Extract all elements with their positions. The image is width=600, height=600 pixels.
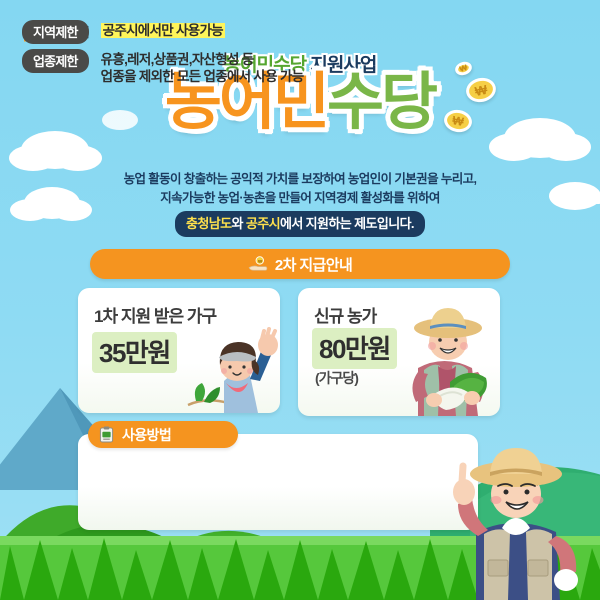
main-title-green-part: 수당 <box>327 68 435 137</box>
card-amount-existing: 35만원 <box>92 332 177 373</box>
highlight-tail: 에서 지원하는 제도입니다. <box>280 216 414 231</box>
usage-tag-business: 업종제한 <box>22 49 89 73</box>
card-sub-new: (가구당) <box>315 368 358 388</box>
farmer-man-pointing-illustration <box>432 432 600 600</box>
highlight-conjunction: 와 <box>231 216 245 231</box>
usage-tag-region: 지역제한 <box>22 20 89 44</box>
highlight-city: 공주시 <box>246 216 280 231</box>
usage-value-business-line2: 업종을 제외한 모든 업종에서 사용 가능 <box>101 68 304 85</box>
description-block: 농업 활동이 창출하는 공익적 가치를 보장하여 농업인이 기본권을 누리고, … <box>0 170 600 237</box>
usage-row-region[interactable]: 지역제한 공주시에서만 사용가능 <box>22 20 303 44</box>
usage-value-region: 공주시에서만 사용가능 <box>101 20 225 39</box>
usage-banner-label: 사용방법 <box>122 425 171 445</box>
usage-value-business: 유흥,레저,상품권,자산형성 등 업종을 제외한 모든 업종에서 사용 가능 <box>101 49 304 85</box>
usage-row-business[interactable]: 업종제한 유흥,레저,상품권,자산형성 등 업종을 제외한 모든 업종에서 사용… <box>22 49 303 85</box>
card-amount-new: 80만원 <box>312 328 397 369</box>
usage-rows: 지역제한 공주시에서만 사용가능 업종제한 유흥,레저,상품권,자산형성 등 업… <box>22 20 303 90</box>
description-highlight-pill: 충청남도와 공주시에서 지원하는 제도입니다. <box>175 211 425 237</box>
poster-canvas: 공주시 농어민수당 지원사업 농어민수당 ₩ ₩ ₩ 농업 활동이 창출하는 공… <box>0 0 600 600</box>
highlight-province: 충청남도 <box>186 216 231 231</box>
usage-panel <box>78 434 478 530</box>
usage-value-region-highlight: 공주시에서만 사용가능 <box>101 23 225 38</box>
usage-section-banner[interactable]: 사용방법 <box>88 421 238 448</box>
farmer-woman-waving-illustration <box>180 309 280 413</box>
description-line-2: 지속가능한 농업·농촌을 만들어 지역경제 활성화를 위하여 <box>0 189 600 208</box>
clipboard-icon <box>99 426 114 443</box>
farmer-man-cabbage-illustration <box>394 296 500 416</box>
description-line-1: 농업 활동이 창출하는 공익적 가치를 보장하여 농업인이 기본권을 누리고, <box>0 170 600 189</box>
hand-holding-coin-icon: ₩ <box>248 256 268 272</box>
payment-card-new[interactable]: 신규 농가 80만원 (가구당) <box>298 288 500 416</box>
card-label-new: 신규 농가 <box>314 302 376 327</box>
payment-banner-label: 2차 지급안내 <box>275 254 352 275</box>
payment-section-banner[interactable]: ₩ 2차 지급안내 <box>90 249 510 279</box>
usage-value-business-line1: 유흥,레저,상품권,자산형성 등 <box>101 51 304 68</box>
payment-card-existing[interactable]: 1차 지원 받은 가구 35만원 <box>78 288 280 413</box>
